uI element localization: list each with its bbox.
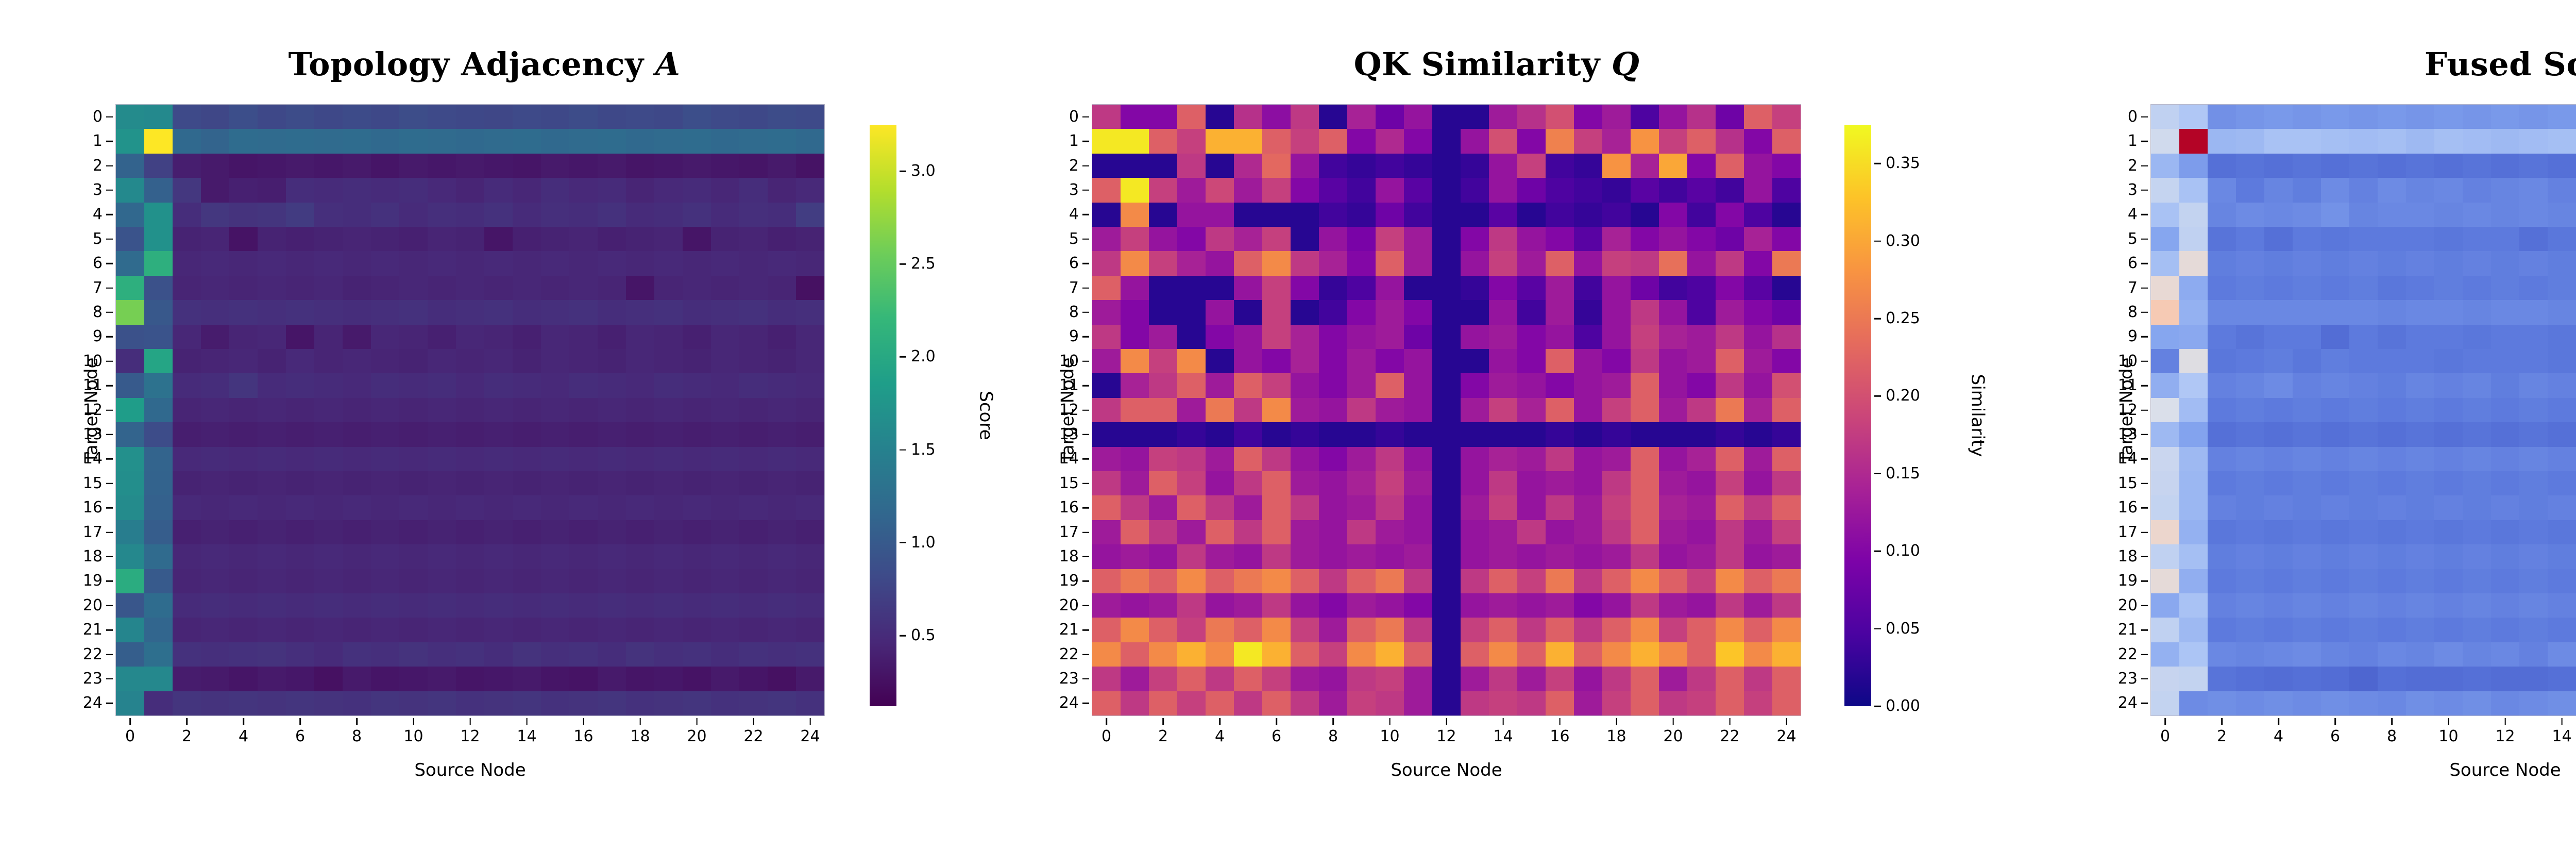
heatmap-cell bbox=[2264, 251, 2293, 275]
heatmap-cell bbox=[1291, 593, 1319, 618]
heatmap-cell bbox=[1291, 691, 1319, 716]
heatmap-cell bbox=[1517, 373, 1546, 397]
heatmap-cell bbox=[1206, 373, 1234, 397]
heatmap-cell bbox=[1772, 471, 1801, 495]
heatmap-cell bbox=[1687, 471, 1716, 495]
heatmap-cell bbox=[654, 520, 683, 544]
heatmap-cell bbox=[1489, 667, 1517, 691]
heatmap-cell bbox=[1574, 667, 1602, 691]
y-axis-tick: 21 bbox=[1059, 622, 1092, 638]
heatmap-cell bbox=[1772, 105, 1801, 129]
heatmap-cell bbox=[768, 447, 796, 471]
heatmap-cell bbox=[2463, 203, 2491, 227]
heatmap-cell bbox=[2349, 251, 2378, 275]
y-axis-tick: 23 bbox=[83, 671, 116, 687]
heatmap-cell bbox=[2293, 544, 2321, 569]
heatmap-cell bbox=[1262, 447, 1291, 471]
heatmap-cell bbox=[1687, 520, 1716, 544]
heatmap-cell bbox=[1602, 422, 1631, 446]
heatmap-cell bbox=[1121, 251, 1149, 275]
heatmap-cell bbox=[2463, 422, 2491, 446]
heatmap-cell bbox=[1149, 325, 1177, 349]
heatmap-cell bbox=[2208, 691, 2236, 716]
heatmap-cell bbox=[1121, 471, 1149, 495]
heatmap-cell bbox=[654, 422, 683, 446]
y-axis-tick: 11 bbox=[1059, 378, 1092, 393]
heatmap-cell bbox=[229, 373, 258, 397]
heatmap-cell bbox=[1517, 667, 1546, 691]
heatmap-cell bbox=[1262, 129, 1291, 153]
y-axis-tick: 3 bbox=[1069, 182, 1092, 198]
heatmap-cell bbox=[2491, 471, 2519, 495]
heatmap-cell bbox=[598, 276, 626, 300]
heatmap-cell bbox=[144, 471, 173, 495]
colorbar-tick: 2.0 bbox=[896, 349, 936, 364]
heatmap-cell bbox=[201, 276, 229, 300]
x-axis-tick: 2 bbox=[1158, 716, 1168, 744]
heatmap-cell bbox=[2548, 105, 2576, 129]
heatmap-cell bbox=[569, 691, 598, 716]
heatmap-cell bbox=[116, 105, 144, 129]
heatmap-cell bbox=[173, 544, 201, 569]
heatmap-cell bbox=[1602, 471, 1631, 495]
heatmap-cell bbox=[768, 667, 796, 691]
panel-fused-scores: Fused Scires C Source Node Target Node 0… bbox=[2025, 0, 2576, 865]
heatmap-cell bbox=[144, 178, 173, 202]
heatmap-cell bbox=[1432, 105, 1461, 129]
heatmap-cell bbox=[428, 422, 456, 446]
heatmap-cell bbox=[2349, 349, 2378, 373]
heatmap-cell bbox=[258, 105, 286, 129]
heatmap-cell bbox=[796, 618, 824, 642]
heatmap-cell bbox=[1121, 325, 1149, 349]
heatmap-cell bbox=[1744, 691, 1772, 716]
heatmap-cell bbox=[2519, 422, 2548, 446]
heatmap-cell bbox=[626, 373, 654, 397]
heatmap-cell bbox=[2179, 593, 2208, 618]
x-axis-tick: 8 bbox=[352, 716, 362, 744]
heatmap-cell bbox=[1376, 691, 1404, 716]
heatmap-cell bbox=[314, 398, 343, 422]
heatmap-cell bbox=[1092, 105, 1121, 129]
heatmap-cell bbox=[2463, 178, 2491, 202]
heatmap-cell bbox=[1489, 178, 1517, 202]
y-axis-tick: 22 bbox=[2118, 647, 2151, 662]
heatmap-cell bbox=[1206, 618, 1234, 642]
heatmap-cell bbox=[1432, 544, 1461, 569]
heatmap-cell bbox=[1376, 349, 1404, 373]
heatmap-cell bbox=[1716, 569, 1744, 593]
heatmap-cell bbox=[2406, 618, 2434, 642]
heatmap-cell bbox=[2208, 520, 2236, 544]
heatmap-cell bbox=[598, 495, 626, 520]
heatmap-cell bbox=[2378, 154, 2406, 178]
heatmap-cell bbox=[654, 618, 683, 642]
heatmap-cell bbox=[1631, 129, 1659, 153]
heatmap-cell bbox=[144, 618, 173, 642]
heatmap-cell bbox=[1716, 593, 1744, 618]
heatmap-cell bbox=[343, 129, 371, 153]
heatmap-cell bbox=[1716, 667, 1744, 691]
heatmap-cell bbox=[371, 618, 399, 642]
heatmap-cell bbox=[1262, 593, 1291, 618]
heatmap-cell bbox=[2208, 276, 2236, 300]
heatmap-cell bbox=[1461, 251, 1489, 275]
heatmap-cell bbox=[1546, 349, 1574, 373]
heatmap-cell bbox=[2378, 251, 2406, 275]
heatmap-cell bbox=[1546, 129, 1574, 153]
heatmap-cell bbox=[1489, 569, 1517, 593]
heatmap-cell bbox=[569, 520, 598, 544]
panel-title-symbol: A bbox=[655, 45, 681, 83]
heatmap-cell bbox=[739, 373, 768, 397]
heatmap-cell bbox=[1602, 642, 1631, 667]
heatmap-cell bbox=[683, 276, 711, 300]
y-axis-tick: 9 bbox=[2128, 329, 2151, 344]
heatmap-cell bbox=[229, 105, 258, 129]
heatmap-cell bbox=[2378, 691, 2406, 716]
heatmap-cell bbox=[1659, 447, 1687, 471]
heatmap-cell bbox=[1092, 544, 1121, 569]
heatmap-cell bbox=[2151, 251, 2179, 275]
heatmap-cell bbox=[229, 349, 258, 373]
heatmap-cell bbox=[1631, 642, 1659, 667]
x-axis-tick: 14 bbox=[1493, 716, 1513, 744]
heatmap-cell bbox=[2179, 178, 2208, 202]
heatmap-cell bbox=[1744, 667, 1772, 691]
heatmap-cell bbox=[1744, 422, 1772, 446]
heatmap-cell bbox=[1262, 154, 1291, 178]
heatmap-cell bbox=[1291, 178, 1319, 202]
y-axis-tick: 1 bbox=[1069, 134, 1092, 149]
heatmap-cell bbox=[1461, 300, 1489, 324]
heatmap-cell bbox=[428, 544, 456, 569]
x-axis-tick: 10 bbox=[2438, 716, 2458, 744]
heatmap-cell bbox=[1687, 203, 1716, 227]
heatmap-cell bbox=[569, 447, 598, 471]
y-axis-tick: 9 bbox=[93, 329, 116, 344]
heatmap-cell bbox=[258, 471, 286, 495]
heatmap-cell bbox=[654, 276, 683, 300]
heatmap-cell bbox=[2321, 129, 2349, 153]
heatmap-cell bbox=[229, 325, 258, 349]
heatmap-cell bbox=[1234, 569, 1262, 593]
y-axis-tick: 10 bbox=[83, 354, 116, 369]
heatmap-cell bbox=[201, 495, 229, 520]
heatmap-cell bbox=[626, 178, 654, 202]
heatmap-cell bbox=[1092, 691, 1121, 716]
x-axis-tick: 8 bbox=[1328, 716, 1338, 744]
heatmap-cell bbox=[2463, 520, 2491, 544]
heatmap-cell bbox=[1149, 569, 1177, 593]
y-axis-tick: 16 bbox=[83, 500, 116, 515]
heatmap-cell bbox=[711, 422, 739, 446]
heatmap-cell bbox=[1404, 520, 1432, 544]
heatmap-cell bbox=[116, 276, 144, 300]
heatmap-cell bbox=[1687, 569, 1716, 593]
heatmap-cell bbox=[144, 325, 173, 349]
heatmap-cell bbox=[116, 642, 144, 667]
heatmap-cell bbox=[1234, 642, 1262, 667]
heatmap-cell bbox=[1744, 251, 1772, 275]
heatmap-cell bbox=[1716, 154, 1744, 178]
heatmap-cell bbox=[541, 618, 569, 642]
heatmap-cell bbox=[286, 373, 314, 397]
heatmap-cell bbox=[484, 593, 513, 618]
heatmap-cell bbox=[1546, 422, 1574, 446]
heatmap-cell bbox=[1319, 495, 1347, 520]
heatmap-cell bbox=[739, 300, 768, 324]
x-axis-tick: 20 bbox=[687, 716, 706, 744]
heatmap-cell bbox=[484, 447, 513, 471]
heatmap-cell bbox=[2264, 154, 2293, 178]
heatmap-cell bbox=[1602, 667, 1631, 691]
heatmap-cell bbox=[2236, 691, 2264, 716]
heatmap-cell bbox=[541, 276, 569, 300]
heatmap-cell bbox=[654, 300, 683, 324]
heatmap-cell bbox=[314, 105, 343, 129]
heatmap-cell bbox=[456, 105, 484, 129]
heatmap-cell bbox=[1121, 495, 1149, 520]
heatmap-cell bbox=[1744, 227, 1772, 251]
heatmap-cell bbox=[768, 520, 796, 544]
heatmap-cell bbox=[2151, 642, 2179, 667]
heatmap-cell bbox=[1121, 520, 1149, 544]
heatmap-cell bbox=[428, 593, 456, 618]
heatmap-cell bbox=[739, 178, 768, 202]
x-axis-tick: 10 bbox=[1380, 716, 1399, 744]
heatmap-cell bbox=[1432, 618, 1461, 642]
heatmap-cell bbox=[1149, 593, 1177, 618]
heatmap-cell bbox=[1546, 593, 1574, 618]
heatmap-cell bbox=[2236, 349, 2264, 373]
heatmap-cell bbox=[1602, 544, 1631, 569]
heatmap-cell bbox=[2519, 129, 2548, 153]
heatmap-cell bbox=[116, 129, 144, 153]
heatmap-cell bbox=[2151, 495, 2179, 520]
heatmap-cell bbox=[2236, 618, 2264, 642]
heatmap-cell bbox=[2349, 691, 2378, 716]
heatmap-cell bbox=[2548, 544, 2576, 569]
heatmap-cell bbox=[1602, 569, 1631, 593]
colorbar-tick: 3.0 bbox=[896, 163, 936, 179]
heatmap-cell bbox=[2519, 667, 2548, 691]
heatmap-cell bbox=[2406, 667, 2434, 691]
heatmap-cell bbox=[2293, 349, 2321, 373]
heatmap-cell bbox=[399, 471, 428, 495]
heatmap-cell bbox=[1376, 105, 1404, 129]
heatmap-cell bbox=[428, 569, 456, 593]
heatmap-cell bbox=[343, 178, 371, 202]
heatmap-cell bbox=[598, 325, 626, 349]
heatmap-cell bbox=[1687, 691, 1716, 716]
heatmap-cell bbox=[399, 251, 428, 275]
heatmap-cell bbox=[739, 422, 768, 446]
heatmap-cell bbox=[1461, 129, 1489, 153]
heatmap-cell bbox=[371, 129, 399, 153]
heatmap-cell bbox=[654, 471, 683, 495]
heatmap-cell bbox=[2321, 593, 2349, 618]
heatmap-cell bbox=[513, 642, 541, 667]
heatmap-cell bbox=[1716, 276, 1744, 300]
heatmap-cell bbox=[1659, 325, 1687, 349]
heatmap-cell bbox=[2321, 642, 2349, 667]
heatmap-cell bbox=[2293, 227, 2321, 251]
heatmap-cell bbox=[1517, 422, 1546, 446]
heatmap-cell bbox=[654, 178, 683, 202]
heatmap-cell bbox=[173, 373, 201, 397]
heatmap-cell bbox=[2236, 154, 2264, 178]
heatmap-cell bbox=[796, 178, 824, 202]
heatmap-cell bbox=[229, 129, 258, 153]
y-axis-tick: 15 bbox=[2118, 476, 2151, 491]
heatmap-cell bbox=[2548, 300, 2576, 324]
heatmap-cell bbox=[1319, 105, 1347, 129]
heatmap-cell bbox=[1121, 105, 1149, 129]
heatmap-cell bbox=[371, 471, 399, 495]
heatmap-cell bbox=[1291, 495, 1319, 520]
heatmap-cell bbox=[428, 398, 456, 422]
heatmap-cell bbox=[2519, 398, 2548, 422]
heatmap-cell bbox=[569, 667, 598, 691]
heatmap-cell bbox=[343, 300, 371, 324]
heatmap-cell bbox=[484, 520, 513, 544]
heatmap-cell bbox=[1121, 593, 1149, 618]
heatmap-cell bbox=[1319, 154, 1347, 178]
heatmap-cell bbox=[286, 447, 314, 471]
heatmap-cell bbox=[2293, 398, 2321, 422]
heatmap-cell bbox=[343, 422, 371, 446]
heatmap-cell bbox=[343, 325, 371, 349]
heatmap-cell bbox=[371, 349, 399, 373]
heatmap-cell bbox=[2349, 544, 2378, 569]
y-axis-tick: 4 bbox=[93, 207, 116, 222]
colorbar-tick: 0.30 bbox=[1871, 234, 1920, 249]
heatmap-cell bbox=[598, 447, 626, 471]
heatmap-cell bbox=[1149, 129, 1177, 153]
heatmap-cell bbox=[2406, 129, 2434, 153]
heatmap-cell bbox=[1631, 422, 1659, 446]
heatmap-cell bbox=[1631, 520, 1659, 544]
heatmap-cell bbox=[1461, 447, 1489, 471]
y-axis-tick: 10 bbox=[1059, 354, 1092, 369]
y-axis-tick: 8 bbox=[93, 305, 116, 320]
heatmap-cell bbox=[1376, 667, 1404, 691]
heatmap-cell bbox=[2321, 154, 2349, 178]
heatmap-cell bbox=[796, 276, 824, 300]
heatmap-cell bbox=[2519, 105, 2548, 129]
heatmap-cell bbox=[1347, 667, 1376, 691]
heatmap-cell bbox=[2491, 642, 2519, 667]
heatmap-cell bbox=[1744, 178, 1772, 202]
heatmap-cell bbox=[484, 349, 513, 373]
heatmap-cell bbox=[1376, 251, 1404, 275]
heatmap-cell bbox=[2349, 520, 2378, 544]
heatmap-cell bbox=[2519, 300, 2548, 324]
heatmap-cell bbox=[2236, 227, 2264, 251]
heatmap-cell bbox=[2349, 300, 2378, 324]
heatmap-cell bbox=[1716, 300, 1744, 324]
heatmap-cell bbox=[2491, 398, 2519, 422]
heatmap-cell bbox=[2406, 300, 2434, 324]
heatmap-cell bbox=[1092, 276, 1121, 300]
heatmap-cell bbox=[1376, 422, 1404, 446]
heatmap-cell bbox=[796, 349, 824, 373]
heatmap-cell bbox=[2264, 398, 2293, 422]
heatmap-cell bbox=[683, 667, 711, 691]
colorbar-tick: 0.05 bbox=[1871, 621, 1920, 637]
heatmap-cell bbox=[541, 154, 569, 178]
y-axis-tick: 16 bbox=[1059, 500, 1092, 515]
heatmap-cell bbox=[1376, 495, 1404, 520]
heatmap-cell bbox=[258, 251, 286, 275]
heatmap-cell bbox=[2519, 203, 2548, 227]
heatmap-cell bbox=[1376, 544, 1404, 569]
heatmap-cell bbox=[1319, 667, 1347, 691]
heatmap-cell bbox=[1602, 593, 1631, 618]
heatmap-cell bbox=[2321, 691, 2349, 716]
heatmap-cell bbox=[2208, 398, 2236, 422]
heatmap-cell bbox=[2548, 203, 2576, 227]
heatmap-cell bbox=[1262, 667, 1291, 691]
heatmap-cell bbox=[399, 447, 428, 471]
heatmap-cell bbox=[1234, 325, 1262, 349]
heatmap-cell bbox=[2264, 520, 2293, 544]
heatmap-cell bbox=[229, 398, 258, 422]
heatmap-cell bbox=[2321, 325, 2349, 349]
heatmap-cell bbox=[456, 495, 484, 520]
heatmap-cell bbox=[541, 300, 569, 324]
heatmap-cell bbox=[1574, 129, 1602, 153]
y-axis-tick: 0 bbox=[1069, 109, 1092, 125]
x-axis-label: Source Node bbox=[1391, 760, 1502, 780]
heatmap-cell bbox=[2264, 691, 2293, 716]
heatmap-cell bbox=[2293, 667, 2321, 691]
y-axis-tick: 23 bbox=[2118, 671, 2151, 687]
heatmap-cell bbox=[1432, 691, 1461, 716]
heatmap-cell bbox=[1687, 251, 1716, 275]
heatmap-cell bbox=[1121, 227, 1149, 251]
heatmap-cell bbox=[371, 642, 399, 667]
heatmap-cell bbox=[1206, 447, 1234, 471]
heatmap-cell bbox=[2264, 422, 2293, 446]
heatmap-cell bbox=[399, 398, 428, 422]
heatmap-cell bbox=[484, 300, 513, 324]
heatmap-cell bbox=[2349, 276, 2378, 300]
heatmap-cell bbox=[626, 129, 654, 153]
heatmap-cell bbox=[286, 251, 314, 275]
heatmap-cell bbox=[2463, 325, 2491, 349]
heatmap-cell bbox=[513, 178, 541, 202]
heatmap-cell bbox=[1744, 300, 1772, 324]
heatmap-cell bbox=[2208, 495, 2236, 520]
heatmap-cell bbox=[796, 569, 824, 593]
heatmap-cell bbox=[116, 422, 144, 446]
y-axis-tick: 24 bbox=[83, 695, 116, 711]
heatmap-cell bbox=[1234, 398, 1262, 422]
heatmap-cell bbox=[1206, 495, 1234, 520]
heatmap-cell bbox=[2519, 154, 2548, 178]
heatmap-cell bbox=[116, 495, 144, 520]
heatmap-cell bbox=[2208, 300, 2236, 324]
heatmap-cell bbox=[1659, 544, 1687, 569]
heatmap-cell bbox=[1319, 691, 1347, 716]
heatmap-cell bbox=[768, 300, 796, 324]
heatmap-cell bbox=[1177, 203, 1206, 227]
heatmap-cell bbox=[2179, 325, 2208, 349]
heatmap-cell bbox=[768, 251, 796, 275]
heatmap-cell bbox=[513, 105, 541, 129]
